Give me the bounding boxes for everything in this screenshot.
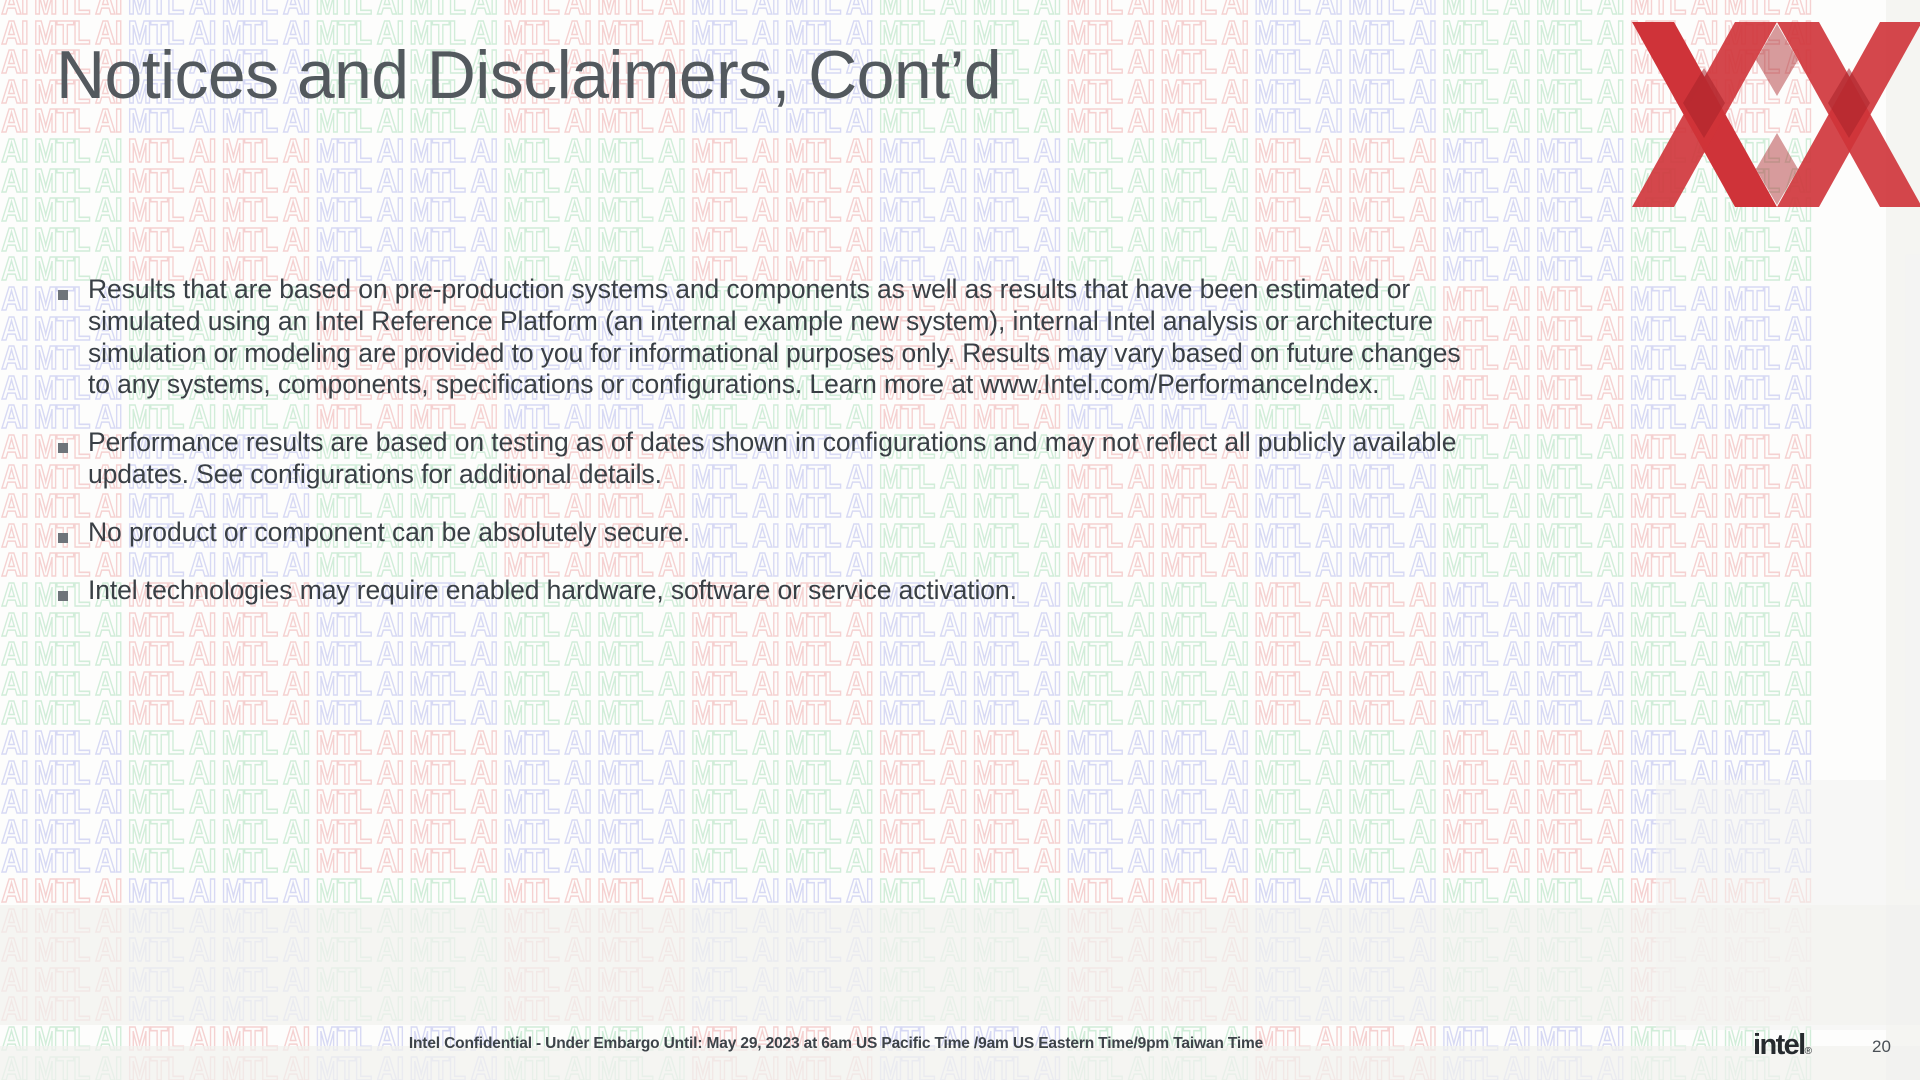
watermark-token: MTL AI: [879, 874, 967, 907]
watermark-token: MTL AI: [1724, 400, 1812, 433]
watermark-row: MTL AIMTL AIMTL AIMTL AIMTL AIMTL AIMTL …: [0, 667, 1746, 700]
watermark-token: MTL AI: [785, 726, 873, 759]
watermark-token: MTL AI: [879, 696, 967, 729]
watermark-token: MTL AI: [973, 874, 1061, 907]
watermark-token: MTL AI: [1442, 756, 1530, 789]
watermark-token: MTL AI: [785, 756, 873, 789]
watermark-token: MTL AI: [0, 193, 28, 226]
watermark-token: MTL AI: [222, 815, 310, 848]
watermark-token: MTL AI: [128, 637, 216, 670]
watermark-token: MTL AI: [1348, 726, 1436, 759]
watermark-token: MTL AI: [1160, 75, 1248, 108]
watermark-token: MTL AI: [691, 844, 779, 877]
watermark-token: MTL AI: [222, 963, 310, 996]
watermark-token: MTL AI: [597, 785, 685, 818]
watermark-token: MTL AI: [0, 489, 28, 522]
watermark-token: MTL AI: [1254, 874, 1342, 907]
watermark-token: MTL AI: [1442, 696, 1530, 729]
watermark-token: MTL AI: [1536, 341, 1624, 374]
watermark-token: MTL AI: [503, 904, 591, 937]
watermark-token: MTL AI: [409, 696, 497, 729]
watermark-token: MTL AI: [222, 904, 310, 937]
watermark-token: MTL AI: [409, 815, 497, 848]
watermark-token: MTL AI: [409, 223, 497, 256]
watermark-token: MTL AI: [1254, 667, 1342, 700]
watermark-token: MTL AI: [1442, 1052, 1530, 1080]
watermark-token: MTL AI: [691, 667, 779, 700]
watermark-token: MTL AI: [409, 0, 497, 19]
watermark-token: MTL AI: [1254, 637, 1342, 670]
watermark-token: MTL AI: [34, 815, 122, 848]
watermark-token: MTL AI: [1160, 667, 1248, 700]
watermark-token: MTL AI: [879, 637, 967, 670]
watermark-token: MTL AI: [0, 1052, 28, 1080]
watermark-token: MTL AI: [128, 874, 216, 907]
watermark-token: MTL AI: [1536, 0, 1624, 19]
watermark-token: MTL AI: [1160, 815, 1248, 848]
watermark-token: MTL AI: [128, 992, 216, 1025]
watermark-token: MTL AI: [1442, 667, 1530, 700]
watermark-token: MTL AI: [1724, 815, 1812, 848]
watermark-token: MTL AI: [315, 667, 403, 700]
watermark-token: MTL AI: [1442, 164, 1530, 197]
watermark-token: MTL AI: [1254, 815, 1342, 848]
watermark-token: MTL AI: [1630, 341, 1718, 374]
watermark-row: MTL AIMTL AIMTL AIMTL AIMTL AIMTL AIMTL …: [0, 193, 1746, 226]
watermark-token: MTL AI: [879, 1052, 967, 1080]
watermark-token: MTL AI: [879, 844, 967, 877]
watermark-token: MTL AI: [128, 815, 216, 848]
watermark-token: MTL AI: [1348, 992, 1436, 1025]
watermark-token: MTL AI: [34, 0, 122, 19]
watermark-row: MTL AIMTL AIMTL AIMTL AIMTL AIMTL AIMTL …: [0, 815, 1746, 848]
watermark-token: MTL AI: [503, 1052, 591, 1080]
watermark-token: MTL AI: [1536, 637, 1624, 670]
watermark-token: MTL AI: [0, 252, 28, 285]
watermark-token: MTL AI: [34, 637, 122, 670]
watermark-token: MTL AI: [597, 164, 685, 197]
watermark-token: MTL AI: [1160, 608, 1248, 641]
watermark-token: MTL AI: [222, 1052, 310, 1080]
watermark-token: MTL AI: [34, 992, 122, 1025]
watermark-token: MTL AI: [34, 726, 122, 759]
watermark-token: MTL AI: [0, 16, 28, 49]
watermark-row: MTL AIMTL AIMTL AIMTL AIMTL AIMTL AIMTL …: [0, 608, 1746, 641]
watermark-row: MTL AIMTL AIMTL AIMTL AIMTL AIMTL AIMTL …: [0, 223, 1746, 256]
watermark-token: MTL AI: [1254, 608, 1342, 641]
bullet-text: No product or component can be absolutel…: [88, 517, 690, 549]
watermark-token: MTL AI: [315, 992, 403, 1025]
watermark-token: MTL AI: [1442, 963, 1530, 996]
watermark-token: MTL AI: [1630, 252, 1718, 285]
watermark-token: MTL AI: [1442, 992, 1530, 1025]
watermark-token: MTL AI: [222, 637, 310, 670]
watermark-token: MTL AI: [1066, 75, 1154, 108]
watermark-token: MTL AI: [409, 963, 497, 996]
watermark-token: MTL AI: [1536, 460, 1624, 493]
watermark-token: MTL AI: [785, 904, 873, 937]
watermark-token: MTL AI: [128, 1052, 216, 1080]
watermark-token: MTL AI: [0, 341, 28, 374]
watermark-token: MTL AI: [0, 992, 28, 1025]
watermark-token: MTL AI: [1160, 785, 1248, 818]
watermark-token: MTL AI: [1724, 282, 1812, 315]
watermark-token: MTL AI: [34, 1052, 122, 1080]
background-veil-right-block: [1656, 780, 1886, 1030]
watermark-token: MTL AI: [1348, 134, 1436, 167]
watermark-token: MTL AI: [1442, 637, 1530, 670]
list-item: Intel technologies may require enabled h…: [58, 575, 1488, 607]
watermark-token: MTL AI: [0, 874, 28, 907]
watermark-token: MTL AI: [34, 963, 122, 996]
watermark-token: MTL AI: [315, 963, 403, 996]
watermark-token: MTL AI: [34, 667, 122, 700]
watermark-token: MTL AI: [0, 460, 28, 493]
watermark-token: MTL AI: [691, 933, 779, 966]
watermark-token: MTL AI: [1724, 341, 1812, 374]
watermark-token: MTL AI: [128, 963, 216, 996]
watermark-token: MTL AI: [1724, 785, 1812, 818]
watermark-token: MTL AI: [1160, 696, 1248, 729]
watermark-token: MTL AI: [1724, 371, 1812, 404]
watermark-token: MTL AI: [222, 608, 310, 641]
watermark-token: MTL AI: [1160, 16, 1248, 49]
watermark-row: MTL AIMTL AIMTL AIMTL AIMTL AIMTL AIMTL …: [0, 963, 1746, 996]
watermark-token: MTL AI: [1160, 134, 1248, 167]
watermark-token: MTL AI: [879, 933, 967, 966]
watermark-token: MTL AI: [879, 0, 967, 19]
watermark-token: MTL AI: [691, 963, 779, 996]
watermark-row: MTL AIMTL AIMTL AIMTL AIMTL AIMTL AIMTL …: [0, 844, 1746, 877]
watermark-token: MTL AI: [1066, 193, 1154, 226]
intel-logo: intel®: [1753, 1031, 1812, 1060]
watermark-token: MTL AI: [1160, 844, 1248, 877]
watermark-token: MTL AI: [691, 726, 779, 759]
watermark-token: MTL AI: [1630, 637, 1718, 670]
watermark-token: MTL AI: [879, 608, 967, 641]
watermark-token: MTL AI: [1442, 134, 1530, 167]
watermark-token: MTL AI: [1536, 45, 1624, 78]
watermark-token: MTL AI: [1254, 16, 1342, 49]
watermark-token: MTL AI: [222, 134, 310, 167]
watermark-token: MTL AI: [222, 785, 310, 818]
watermark-token: MTL AI: [973, 963, 1061, 996]
watermark-token: MTL AI: [0, 667, 28, 700]
watermark-token: MTL AI: [128, 667, 216, 700]
watermark-token: MTL AI: [973, 992, 1061, 1025]
watermark-token: MTL AI: [0, 696, 28, 729]
watermark-token: MTL AI: [879, 164, 967, 197]
watermark-token: MTL AI: [973, 608, 1061, 641]
watermark-token: MTL AI: [34, 223, 122, 256]
watermark-row: MTL AIMTL AIMTL AIMTL AIMTL AIMTL AIMTL …: [0, 933, 1746, 966]
watermark-token: MTL AI: [597, 1052, 685, 1080]
watermark-token: MTL AI: [0, 312, 28, 345]
watermark-token: MTL AI: [1630, 548, 1718, 581]
watermark-token: MTL AI: [1536, 430, 1624, 463]
watermark-token: MTL AI: [1630, 400, 1718, 433]
watermark-token: MTL AI: [128, 696, 216, 729]
watermark-token: MTL AI: [1536, 608, 1624, 641]
watermark-token: MTL AI: [597, 992, 685, 1025]
watermark-token: MTL AI: [1348, 815, 1436, 848]
watermark-token: MTL AI: [1442, 75, 1530, 108]
watermark-token: MTL AI: [597, 637, 685, 670]
watermark-token: MTL AI: [1630, 904, 1718, 937]
watermark-token: MTL AI: [973, 164, 1061, 197]
watermark-token: MTL AI: [1348, 0, 1436, 19]
bullet-text: Intel technologies may require enabled h…: [88, 575, 1017, 607]
watermark-token: MTL AI: [785, 608, 873, 641]
watermark-row: MTL AIMTL AIMTL AIMTL AIMTL AIMTL AIMTL …: [0, 696, 1746, 729]
watermark-token: MTL AI: [1630, 756, 1718, 789]
watermark-token: MTL AI: [879, 963, 967, 996]
watermark-token: MTL AI: [409, 992, 497, 1025]
watermark-token: MTL AI: [128, 134, 216, 167]
watermark-token: MTL AI: [222, 0, 310, 19]
watermark-token: MTL AI: [503, 844, 591, 877]
watermark-token: MTL AI: [691, 134, 779, 167]
watermark-token: MTL AI: [1630, 608, 1718, 641]
watermark-token: MTL AI: [691, 193, 779, 226]
page-number: 20: [1872, 1037, 1891, 1057]
watermark-token: MTL AI: [1724, 252, 1812, 285]
watermark-token: MTL AI: [1536, 104, 1624, 137]
watermark-row: MTL AIMTL AIMTL AIMTL AIMTL AIMTL AIMTL …: [0, 164, 1746, 197]
watermark-token: MTL AI: [785, 1052, 873, 1080]
bullet-text: Performance results are based on testing…: [88, 427, 1488, 491]
watermark-token: MTL AI: [1066, 16, 1154, 49]
bullet-list: Results that are based on pre-production…: [58, 274, 1488, 606]
watermark-token: MTL AI: [1348, 45, 1436, 78]
watermark-token: MTL AI: [1066, 45, 1154, 78]
watermark-token: MTL AI: [1066, 637, 1154, 670]
watermark-token: MTL AI: [597, 874, 685, 907]
watermark-token: MTL AI: [0, 548, 28, 581]
watermark-token: MTL AI: [785, 785, 873, 818]
watermark-token: MTL AI: [1066, 134, 1154, 167]
watermark-token: MTL AI: [315, 815, 403, 848]
watermark-token: MTL AI: [1724, 0, 1812, 19]
watermark-token: MTL AI: [315, 785, 403, 818]
watermark-token: MTL AI: [1630, 874, 1718, 907]
watermark-token: MTL AI: [1348, 696, 1436, 729]
watermark-token: MTL AI: [1724, 904, 1812, 937]
watermark-token: MTL AI: [1630, 282, 1718, 315]
page-title: Notices and Disclaimers, Cont’d: [56, 36, 1001, 114]
watermark-token: MTL AI: [1066, 904, 1154, 937]
watermark-token: MTL AI: [128, 223, 216, 256]
watermark-token: MTL AI: [1254, 193, 1342, 226]
watermark-token: MTL AI: [973, 1052, 1061, 1080]
watermark-token: MTL AI: [1442, 785, 1530, 818]
watermark-token: MTL AI: [128, 726, 216, 759]
watermark-token: MTL AI: [409, 667, 497, 700]
watermark-token: MTL AI: [1066, 963, 1154, 996]
watermark-token: MTL AI: [1348, 667, 1436, 700]
watermark-token: MTL AI: [879, 134, 967, 167]
watermark-token: MTL AI: [1160, 0, 1248, 19]
watermark-token: MTL AI: [0, 104, 28, 137]
watermark-token: MTL AI: [409, 933, 497, 966]
watermark-token: MTL AI: [1442, 193, 1530, 226]
watermark-token: MTL AI: [1066, 726, 1154, 759]
watermark-token: MTL AI: [1724, 667, 1812, 700]
watermark-token: MTL AI: [1254, 0, 1342, 19]
watermark-token: MTL AI: [34, 193, 122, 226]
watermark-token: MTL AI: [879, 193, 967, 226]
watermark-token: MTL AI: [222, 696, 310, 729]
watermark-token: MTL AI: [503, 667, 591, 700]
watermark-token: MTL AI: [503, 726, 591, 759]
watermark-token: MTL AI: [1066, 844, 1154, 877]
watermark-token: MTL AI: [503, 874, 591, 907]
watermark-token: MTL AI: [409, 726, 497, 759]
list-item: No product or component can be absolutel…: [58, 517, 1488, 549]
watermark-token: MTL AI: [1348, 844, 1436, 877]
watermark-token: MTL AI: [222, 164, 310, 197]
watermark-token: MTL AI: [1348, 164, 1436, 197]
background-veil-lower: [0, 905, 1920, 1025]
watermark-token: MTL AI: [1348, 963, 1436, 996]
watermark-token: MTL AI: [34, 608, 122, 641]
watermark-token: MTL AI: [409, 134, 497, 167]
watermark-token: MTL AI: [1442, 223, 1530, 256]
bullet-square-icon: [58, 443, 68, 453]
xx-logo: [1632, 22, 1920, 207]
watermark-token: MTL AI: [503, 223, 591, 256]
watermark-token: MTL AI: [222, 193, 310, 226]
watermark-token: MTL AI: [315, 696, 403, 729]
watermark-token: MTL AI: [1442, 904, 1530, 937]
watermark-token: MTL AI: [691, 815, 779, 848]
watermark-token: MTL AI: [128, 844, 216, 877]
watermark-token: MTL AI: [973, 933, 1061, 966]
watermark-token: MTL AI: [785, 0, 873, 19]
watermark-token: MTL AI: [973, 904, 1061, 937]
watermark-token: MTL AI: [785, 667, 873, 700]
watermark-token: MTL AI: [34, 164, 122, 197]
watermark-token: MTL AI: [1724, 844, 1812, 877]
watermark-token: MTL AI: [1066, 696, 1154, 729]
watermark-token: MTL AI: [1254, 756, 1342, 789]
watermark-row: MTL AIMTL AIMTL AIMTL AIMTL AIMTL AIMTL …: [0, 637, 1746, 670]
watermark-token: MTL AI: [0, 371, 28, 404]
watermark-token: MTL AI: [691, 1052, 779, 1080]
watermark-token: MTL AI: [1724, 874, 1812, 907]
watermark-token: MTL AI: [691, 785, 779, 818]
bullet-square-icon: [58, 533, 68, 543]
watermark-row: MTL AIMTL AIMTL AIMTL AIMTL AIMTL AIMTL …: [0, 1052, 1746, 1080]
watermark-token: MTL AI: [1254, 696, 1342, 729]
watermark-token: MTL AI: [222, 992, 310, 1025]
watermark-token: MTL AI: [409, 844, 497, 877]
watermark-token: MTL AI: [1630, 726, 1718, 759]
watermark-row: MTL AIMTL AIMTL AIMTL AIMTL AIMTL AIMTL …: [0, 756, 1746, 789]
watermark-token: MTL AI: [0, 578, 28, 611]
watermark-token: MTL AI: [409, 637, 497, 670]
watermark-token: MTL AI: [1160, 223, 1248, 256]
watermark-token: MTL AI: [1630, 371, 1718, 404]
watermark-token: MTL AI: [409, 785, 497, 818]
watermark-token: MTL AI: [1160, 45, 1248, 78]
watermark-token: MTL AI: [879, 756, 967, 789]
watermark-token: MTL AI: [1254, 45, 1342, 78]
watermark-token: MTL AI: [1536, 815, 1624, 848]
watermark-token: MTL AI: [128, 193, 216, 226]
watermark-token: MTL AI: [503, 992, 591, 1025]
watermark-token: MTL AI: [0, 815, 28, 848]
watermark-token: MTL AI: [597, 726, 685, 759]
watermark-token: MTL AI: [1160, 992, 1248, 1025]
watermark-token: MTL AI: [0, 75, 28, 108]
watermark-token: MTL AI: [1348, 756, 1436, 789]
watermark-token: MTL AI: [1536, 904, 1624, 937]
bullet-square-icon: [58, 290, 68, 300]
watermark-token: MTL AI: [0, 637, 28, 670]
watermark-token: MTL AI: [315, 756, 403, 789]
watermark-token: MTL AI: [691, 608, 779, 641]
watermark-token: MTL AI: [409, 756, 497, 789]
watermark-token: MTL AI: [0, 519, 28, 552]
watermark-token: MTL AI: [0, 282, 28, 315]
watermark-token: MTL AI: [597, 933, 685, 966]
watermark-token: MTL AI: [879, 815, 967, 848]
watermark-row: MTL AIMTL AIMTL AIMTL AIMTL AIMTL AIMTL …: [0, 904, 1746, 937]
watermark-token: MTL AI: [973, 134, 1061, 167]
watermark-token: MTL AI: [785, 193, 873, 226]
watermark-token: MTL AI: [1630, 460, 1718, 493]
list-item: Results that are based on pre-production…: [58, 274, 1488, 401]
watermark-token: MTL AI: [315, 933, 403, 966]
watermark-token: MTL AI: [1066, 667, 1154, 700]
watermark-token: MTL AI: [1066, 874, 1154, 907]
watermark-token: MTL AI: [1536, 667, 1624, 700]
watermark-token: MTL AI: [1536, 489, 1624, 522]
watermark-token: MTL AI: [691, 637, 779, 670]
watermark-token: MTL AI: [1724, 223, 1812, 256]
watermark-token: MTL AI: [0, 45, 28, 78]
watermark-token: MTL AI: [1160, 756, 1248, 789]
watermark-token: MTL AI: [1348, 223, 1436, 256]
watermark-token: MTL AI: [1160, 637, 1248, 670]
watermark-token: MTL AI: [1536, 726, 1624, 759]
watermark-token: MTL AI: [597, 696, 685, 729]
watermark-token: MTL AI: [1160, 933, 1248, 966]
watermark-token: MTL AI: [222, 933, 310, 966]
watermark-token: MTL AI: [1630, 223, 1718, 256]
watermark-token: MTL AI: [128, 164, 216, 197]
watermark-token: MTL AI: [1536, 400, 1624, 433]
watermark-token: MTL AI: [1630, 696, 1718, 729]
watermark-token: MTL AI: [34, 785, 122, 818]
watermark-token: MTL AI: [34, 696, 122, 729]
watermark-token: MTL AI: [785, 815, 873, 848]
watermark-token: MTL AI: [691, 696, 779, 729]
watermark-token: MTL AI: [973, 193, 1061, 226]
watermark-token: MTL AI: [597, 756, 685, 789]
watermark-token: MTL AI: [597, 667, 685, 700]
watermark-token: MTL AI: [1254, 1052, 1342, 1080]
watermark-token: MTL AI: [1066, 992, 1154, 1025]
watermark-token: MTL AI: [1066, 1052, 1154, 1080]
watermark-token: MTL AI: [1630, 992, 1718, 1025]
watermark-token: MTL AI: [1254, 933, 1342, 966]
watermark-token: MTL AI: [785, 874, 873, 907]
watermark-token: MTL AI: [1724, 548, 1812, 581]
watermark-token: MTL AI: [315, 193, 403, 226]
watermark-token: MTL AI: [973, 844, 1061, 877]
